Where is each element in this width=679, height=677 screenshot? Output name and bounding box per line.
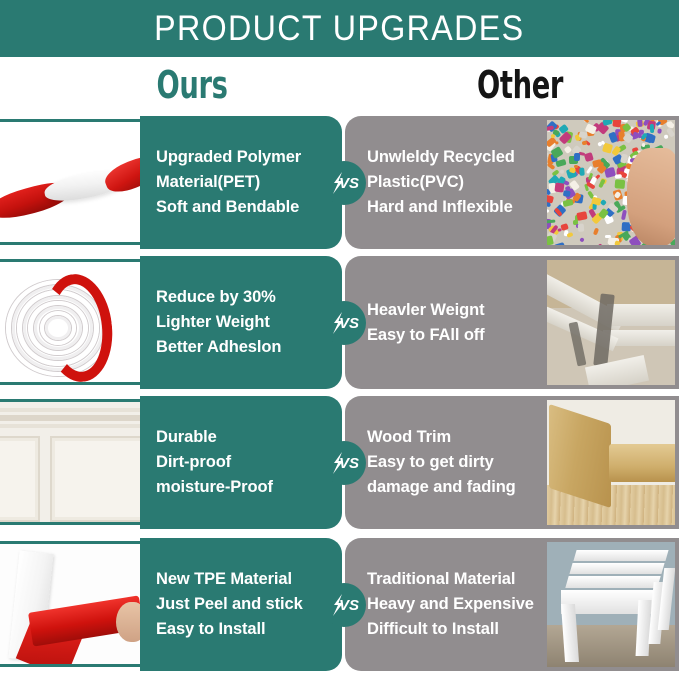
peel-and-stick-adhesive-photo [0, 544, 142, 664]
comparison-row: New TPE Material Just Peel and stick Eas… [0, 537, 679, 677]
other-image-cell [543, 396, 679, 529]
ours-line: Durable [156, 425, 334, 450]
comparison-row: Reduce by 30% Lighter Weight Better Adhe… [0, 255, 679, 395]
other-line: Easy to FAll off [367, 323, 541, 348]
ours-line: Lighter Weight [156, 310, 334, 335]
comparison-row: Upgraded Polymer Material(PET) Soft and … [0, 115, 679, 255]
plastic-flake [602, 120, 612, 126]
other-line: Heavler Weignt [367, 298, 541, 323]
other-line: Easy to get dirty [367, 450, 541, 475]
wooden-baseboard-corner-photo [547, 400, 675, 525]
plastic-flake [579, 168, 585, 176]
white-wainscot-panel-photo [0, 402, 142, 522]
plastic-flake [560, 170, 564, 174]
lightning-bolt-icon: VS [329, 312, 359, 334]
ours-line: Easy to Install [156, 617, 334, 642]
heading-other: Other [426, 63, 613, 107]
ours-image-cell [0, 399, 142, 525]
comparison-row: Durable Dirt-proof moisture-Proof VS Woo… [0, 395, 679, 537]
ours-line: moisture-Proof [156, 475, 334, 500]
plastic-flake [579, 237, 585, 243]
plastic-flake [620, 120, 628, 122]
damaged-white-trim-photo [547, 260, 675, 385]
plastic-flake [583, 120, 589, 123]
ours-text-panel: Upgraded Polymer Material(PET) Soft and … [140, 116, 342, 249]
column-headings: Ours Other [0, 57, 679, 115]
plastic-flake [547, 219, 555, 223]
other-line: Plastic(PVC) [367, 170, 541, 195]
plastic-flake [547, 208, 549, 213]
heading-ours: Ours [98, 63, 285, 107]
comparison-rows: Upgraded Polymer Material(PET) Soft and … [0, 115, 679, 677]
ours-line: Better Adheslon [156, 335, 334, 360]
plastic-flake [554, 242, 565, 245]
plastic-flake [612, 120, 621, 127]
coiled-tape-roll-photo [0, 262, 142, 382]
vs-badge: VS [322, 161, 366, 205]
plastic-flake [578, 224, 584, 233]
plastic-flake [564, 146, 572, 154]
ours-line: Soft and Bendable [156, 195, 334, 220]
plastic-flake [567, 232, 574, 238]
ours-text-panel: Reduce by 30% Lighter Weight Better Adhe… [140, 256, 342, 389]
vs-badge: VS [322, 583, 366, 627]
plastic-flake [547, 195, 555, 204]
vs-badge: VS [322, 301, 366, 345]
ours-line: Just Peel and stick [156, 592, 334, 617]
other-image-cell [543, 116, 679, 249]
svg-text:VS: VS [339, 455, 359, 472]
plastic-flake [576, 211, 588, 221]
ours-line: Reduce by 30% [156, 285, 334, 310]
other-text-panel: Heavler Weignt Easy to FAll off [345, 256, 545, 389]
plastic-flake [554, 183, 564, 193]
plastic-flake [663, 135, 667, 140]
other-image-cell [543, 538, 679, 671]
ours-image-cell [0, 541, 142, 667]
plastic-flake [561, 223, 570, 231]
page-title: PRODUCT UPGRADES [154, 9, 524, 49]
other-text-panel: Traditional Material Heavy and Expensive… [345, 538, 545, 671]
header-banner: PRODUCT UPGRADES [0, 0, 679, 57]
twisted-pet-strip-photo [0, 122, 142, 242]
svg-text:VS: VS [339, 597, 359, 614]
other-line: Heavy and Expensive [367, 592, 541, 617]
other-text-panel: Unwleldy Recycled Plastic(PVC) Hard and … [345, 116, 545, 249]
other-line: damage and fading [367, 475, 541, 500]
stacked-wood-frames-photo [547, 542, 675, 667]
plastic-flake [657, 128, 662, 134]
lightning-bolt-icon: VS [329, 172, 359, 194]
ours-image-cell [0, 119, 142, 245]
other-text-panel: Wood Trim Easy to get dirty damage and f… [345, 396, 545, 529]
plastic-flake [600, 199, 607, 206]
recycled-plastic-flakes-photo [547, 120, 675, 245]
plastic-flake [614, 241, 620, 245]
other-line: Difficult to Install [367, 617, 541, 642]
plastic-flake [582, 140, 587, 145]
plastic-flake [573, 153, 579, 161]
lightning-bolt-icon: VS [329, 594, 359, 616]
lightning-bolt-icon: VS [329, 452, 359, 474]
plastic-flake [614, 174, 622, 179]
plastic-flake [614, 178, 624, 188]
ours-text-panel: Durable Dirt-proof moisture-Proof [140, 396, 342, 529]
ours-image-cell [0, 259, 142, 385]
plastic-flake [593, 227, 599, 235]
ours-line: Dirt-proof [156, 450, 334, 475]
other-line: Hard and Inflexible [367, 195, 541, 220]
other-line: Unwleldy Recycled [367, 145, 541, 170]
plastic-flake [650, 124, 655, 133]
other-line: Traditional Material [367, 567, 541, 592]
vs-badge: VS [322, 441, 366, 485]
plastic-flake [594, 243, 605, 245]
ours-line: Upgraded Polymer [156, 145, 334, 170]
other-line: Wood Trim [367, 425, 541, 450]
plastic-flake [647, 134, 656, 143]
svg-text:VS: VS [339, 315, 359, 332]
plastic-flake [556, 159, 568, 168]
plastic-flake [563, 199, 574, 207]
ours-text-panel: New TPE Material Just Peel and stick Eas… [140, 538, 342, 671]
svg-text:VS: VS [339, 175, 359, 192]
other-image-cell [543, 256, 679, 389]
ours-line: New TPE Material [156, 567, 334, 592]
ours-line: Material(PET) [156, 170, 334, 195]
product-comparison-poster: PRODUCT UPGRADES Ours Other Upgraded Pol… [0, 0, 679, 677]
